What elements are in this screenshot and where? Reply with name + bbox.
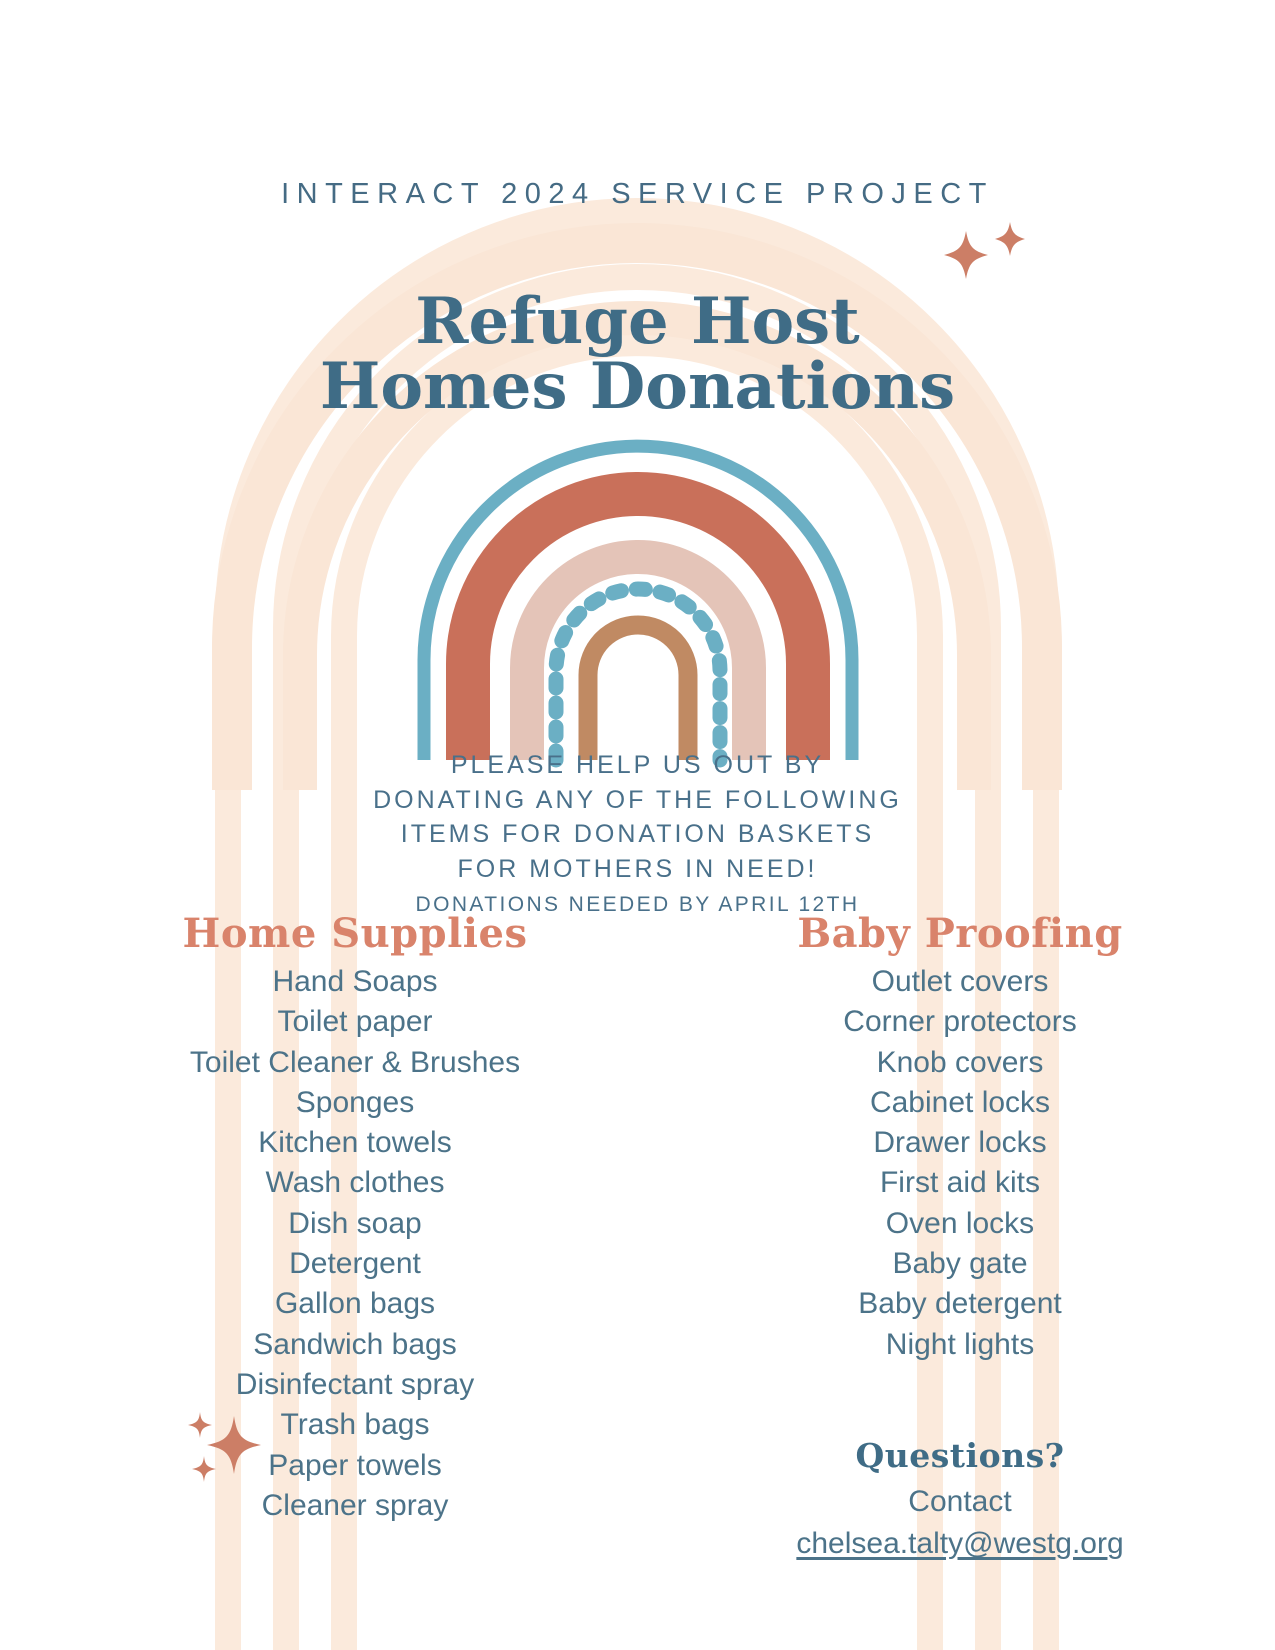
list-item: Cabinet locks [700,1083,1220,1123]
page-title: Refuge Host Homes Donations [0,289,1275,420]
flyer-page: INTERACT 2024 SERVICE PROJECT Refuge Hos… [0,0,1275,1650]
list-item: Kitchen towels [100,1123,610,1163]
eyebrow-text: INTERACT 2024 SERVICE PROJECT [0,178,1275,211]
blurb-line-1: PLEASE HELP US OUT BY [0,748,1275,783]
list-item: Toilet Cleaner & Brushes [100,1043,610,1083]
questions-block: Questions? Contact chelsea.talty@westg.o… [700,1438,1220,1564]
list-item: Detergent [100,1244,610,1284]
list-item: Disinfectant spray [100,1365,610,1405]
list-item: Hand Soaps [100,962,610,1002]
list-item: Paper towels [100,1446,610,1486]
list-item: Trash bags [100,1405,610,1445]
list-item: Oven locks [700,1204,1220,1244]
title-line-2: Homes Donations [0,354,1275,419]
list-item: First aid kits [700,1163,1220,1203]
title-line-1: Refuge Host [415,284,859,359]
blurb-line-4: FOR MOTHERS IN NEED! [0,852,1275,887]
list-item: Cleaner spray [100,1486,610,1526]
column-baby-proofing: Baby Proofing Outlet covers Corner prote… [700,912,1220,1365]
list-item: Baby detergent [700,1284,1220,1324]
list-item: Knob covers [700,1043,1220,1083]
list-item: Sandwich bags [100,1325,610,1365]
section-heading-home-supplies: Home Supplies [100,912,610,956]
list-item: Sponges [100,1083,610,1123]
list-item: Night lights [700,1325,1220,1365]
questions-heading: Questions? [700,1438,1220,1474]
list-item: Wash clothes [100,1163,610,1203]
list-item: Drawer locks [700,1123,1220,1163]
blurb-line-2: DONATING ANY OF THE FOLLOWING [0,783,1275,818]
list-item: Toilet paper [100,1002,610,1042]
baby-proofing-list: Outlet covers Corner protectors Knob cov… [700,962,1220,1365]
list-item: Corner protectors [700,1002,1220,1042]
column-home-supplies: Home Supplies Hand Soaps Toilet paper To… [100,912,610,1526]
instruction-blurb: PLEASE HELP US OUT BY DONATING ANY OF TH… [0,748,1275,920]
list-item: Baby gate [700,1244,1220,1284]
home-supplies-list: Hand Soaps Toilet paper Toilet Cleaner &… [100,962,610,1526]
list-item: Gallon bags [100,1284,610,1324]
contact-label: Contact [700,1480,1220,1524]
section-heading-baby-proofing: Baby Proofing [700,912,1220,956]
contact-email-link[interactable]: chelsea.talty@westg.org [796,1524,1123,1564]
list-item: Outlet covers [700,962,1220,1002]
list-item: Dish soap [100,1204,610,1244]
blurb-line-3: ITEMS FOR DONATION BASKETS [0,817,1275,852]
